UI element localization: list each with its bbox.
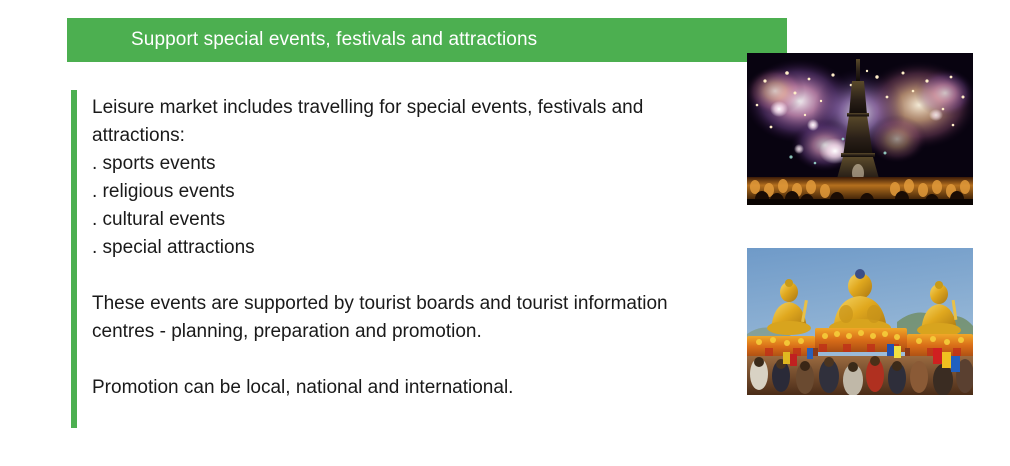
paragraph-spacer (92, 346, 722, 374)
list-item: . sports events (92, 150, 722, 178)
fireworks-eiffel-tower-photo (747, 53, 973, 205)
event-type-list: . sports events . religious events . cul… (92, 150, 722, 262)
golden-buddha-statues-photo (747, 248, 973, 395)
supported-paragraph: These events are supported by tourist bo… (92, 290, 672, 346)
buddha-statues-illustration (747, 248, 973, 395)
page-title: Support special events, festivals and at… (131, 29, 537, 51)
list-item: . religious events (92, 178, 722, 206)
slide-canvas: Support special events, festivals and at… (0, 0, 1010, 466)
body-content: Leisure market includes travelling for s… (92, 94, 722, 402)
left-accent-bar (71, 90, 77, 428)
list-item: . cultural events (92, 206, 722, 234)
paragraph-spacer (92, 262, 722, 290)
slide-title-bar: Support special events, festivals and at… (67, 18, 787, 62)
fireworks-illustration (747, 53, 973, 205)
intro-paragraph: Leisure market includes travelling for s… (92, 94, 717, 150)
promotion-paragraph: Promotion can be local, national and int… (92, 374, 722, 402)
list-item: . special attractions (92, 234, 722, 262)
